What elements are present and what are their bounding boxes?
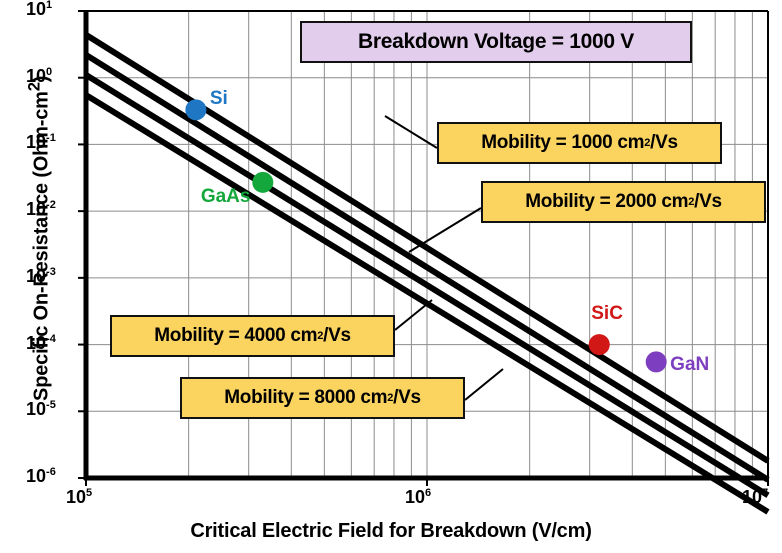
data-point-gaas[interactable] bbox=[253, 172, 273, 192]
annotation-mobility-2000: Mobility = 2000 cm2/Vs bbox=[481, 181, 766, 223]
data-point-label-gan: GaN bbox=[670, 354, 709, 376]
annotation-breakdown-voltage: Breakdown Voltage = 1000 V bbox=[300, 21, 692, 63]
x-tick-label: 105 bbox=[66, 487, 92, 508]
y-tick-label: 10-3 bbox=[26, 266, 56, 287]
y-tick-label: 10-1 bbox=[26, 132, 56, 153]
annotation-mobility-1000: Mobility = 1000 cm2/Vs bbox=[437, 122, 722, 164]
x-axis-title: Critical Electric Field for Breakdown (V… bbox=[0, 520, 782, 543]
x-tick-label: 107 bbox=[742, 487, 768, 508]
data-point-label-gaas: GaAs bbox=[201, 186, 251, 208]
data-point-gan[interactable] bbox=[646, 352, 666, 372]
y-tick-label: 10-2 bbox=[26, 199, 56, 220]
data-point-sic[interactable] bbox=[589, 335, 609, 355]
y-tick-label: 10-4 bbox=[26, 333, 56, 354]
annotation-mobility-8000: Mobility = 8000 cm2/Vs bbox=[180, 377, 465, 419]
y-tick-label: 10-6 bbox=[26, 466, 56, 487]
y-tick-label: 100 bbox=[26, 66, 52, 87]
data-point-si[interactable] bbox=[186, 100, 206, 120]
chart-root: Specific On-Resistance (Ohm-cm2) Critica… bbox=[0, 0, 782, 553]
annotation-mobility-4000: Mobility = 4000 cm2/Vs bbox=[110, 315, 395, 357]
chart-canvas bbox=[0, 0, 782, 553]
data-point-label-sic: SiC bbox=[591, 303, 623, 325]
y-tick-label: 10-5 bbox=[26, 399, 56, 420]
x-tick-label: 106 bbox=[405, 487, 431, 508]
data-point-label-si: Si bbox=[210, 88, 228, 110]
y-tick-label: 101 bbox=[26, 0, 52, 20]
